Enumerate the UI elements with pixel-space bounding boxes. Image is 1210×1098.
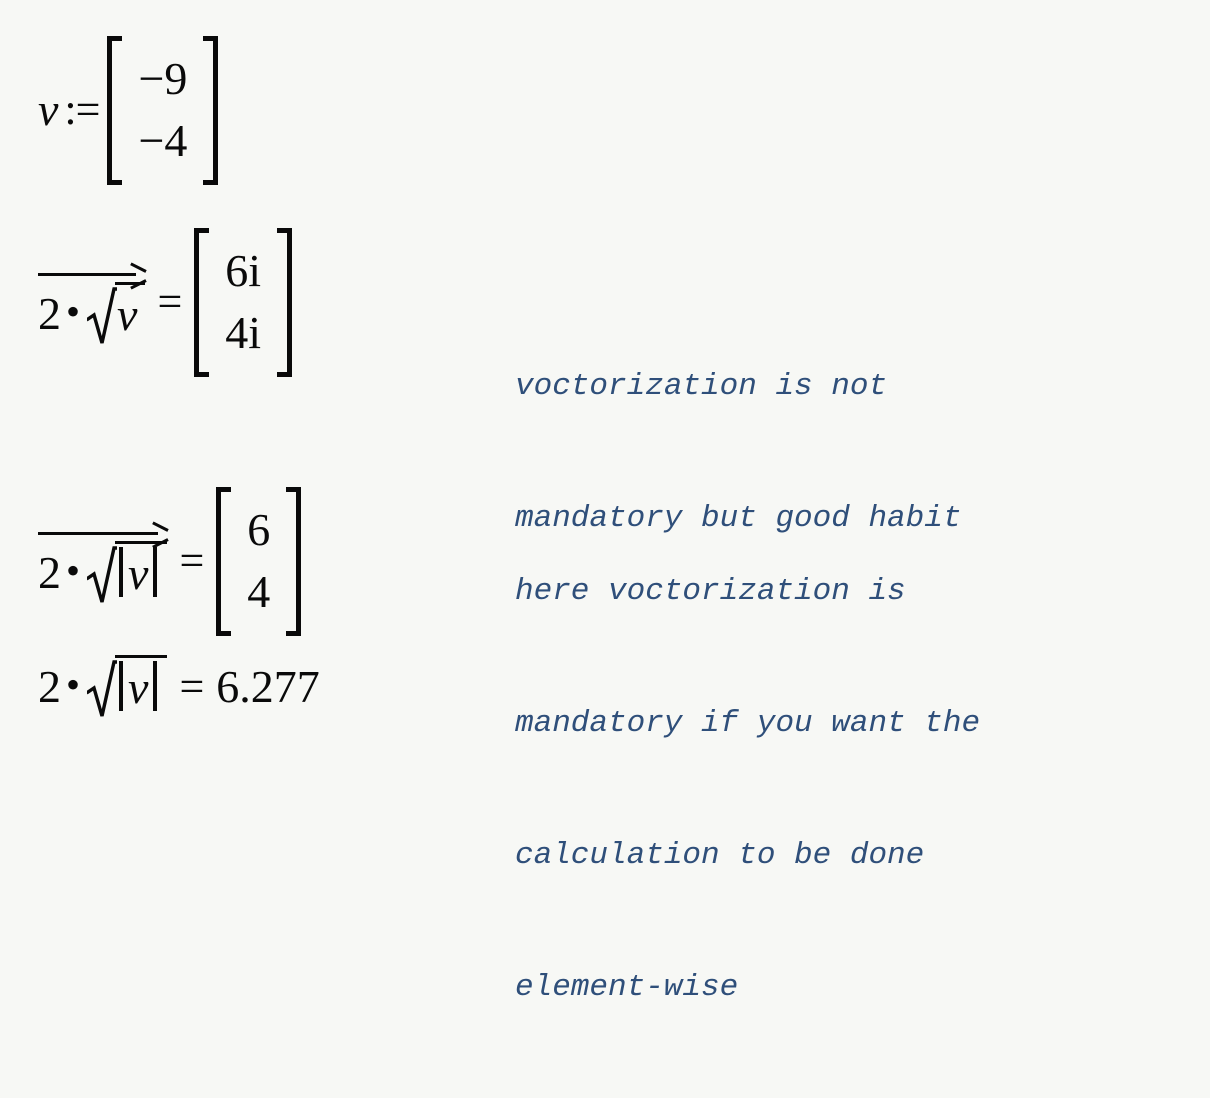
vectorize-group: 2 • v [38,258,145,346]
matrix-cell: 4 [247,561,270,623]
matrix-cells: −9 −4 [124,36,201,185]
radicand-variable: v [123,551,153,597]
radicand-variable: v [123,665,153,711]
annotation-line: mandatory if you want the [515,702,980,746]
bracket-left-icon [194,228,211,377]
vectorize-body: 2 • v [38,541,167,605]
abs-bar-right-icon [153,661,157,711]
scalar-result: 6.277 [216,664,320,710]
absolute-value-group: v [117,661,159,711]
abs-bar-right-icon [153,547,157,597]
annotation-vectorization-required[interactable]: here voctorization is mandatory if you w… [515,482,980,1098]
matrix-cell: −9 [138,48,187,110]
annotation-line: element-wise [515,966,980,1010]
coefficient: 2 [38,550,61,596]
square-root-group: v [87,541,167,605]
matrix-cell: 4i [225,302,261,364]
radicand-variable: v [117,292,137,338]
annotation-line: voctorization is not [515,365,961,409]
vectorize-group: 2 • v [38,517,167,605]
bracket-left-icon [107,36,124,185]
radicand: v [115,282,145,336]
radicand: v [115,541,167,595]
annotation-line: here voctorization is [515,570,980,614]
matrix-cells: 6 4 [233,487,284,636]
square-root-group: v [87,282,145,346]
worksheet-canvas: v := −9 −4 2 • [0,0,1210,756]
vectorize-arrow-icon [38,517,167,539]
result-vector: 6i 4i [194,228,292,377]
variable-v: v [38,87,58,133]
bracket-left-icon [216,487,233,636]
vectorize-arrow-icon [38,258,145,280]
multiply-operator: • [66,292,80,332]
assignment-operator: := [64,88,99,132]
equals-operator: = [179,539,204,583]
math-region-sqrt-abs-scalar[interactable]: 2 • v = 6.277 [38,655,320,719]
square-root-group: v [87,655,167,719]
equals-operator: = [179,665,204,709]
bracket-right-icon [275,228,292,377]
coefficient: 2 [38,291,61,337]
column-vector-definition: −9 −4 [107,36,218,185]
absolute-value-group: v [117,547,159,597]
matrix-cell: 6i [225,240,261,302]
multiply-operator: • [66,551,80,591]
math-region-definition[interactable]: v := −9 −4 [38,36,218,185]
result-vector: 6 4 [216,487,301,636]
math-region-sqrt-vector[interactable]: 2 • v = 6i 4i [38,228,292,377]
bracket-right-icon [201,36,218,185]
equals-operator: = [157,280,182,324]
multiply-operator: • [66,665,80,705]
radical-sign-icon [87,282,117,346]
radical-sign-icon [87,541,117,605]
coefficient: 2 [38,664,61,710]
matrix-cell: −4 [138,110,187,172]
radical-sign-icon [87,655,117,719]
vectorize-body: 2 • v [38,282,145,346]
math-region-sqrt-abs-vector[interactable]: 2 • v [38,487,301,636]
radicand: v [115,655,167,709]
matrix-cells: 6i 4i [211,228,275,377]
bracket-right-icon [284,487,301,636]
matrix-cell: 6 [247,499,270,561]
annotation-line: calculation to be done [515,834,980,878]
